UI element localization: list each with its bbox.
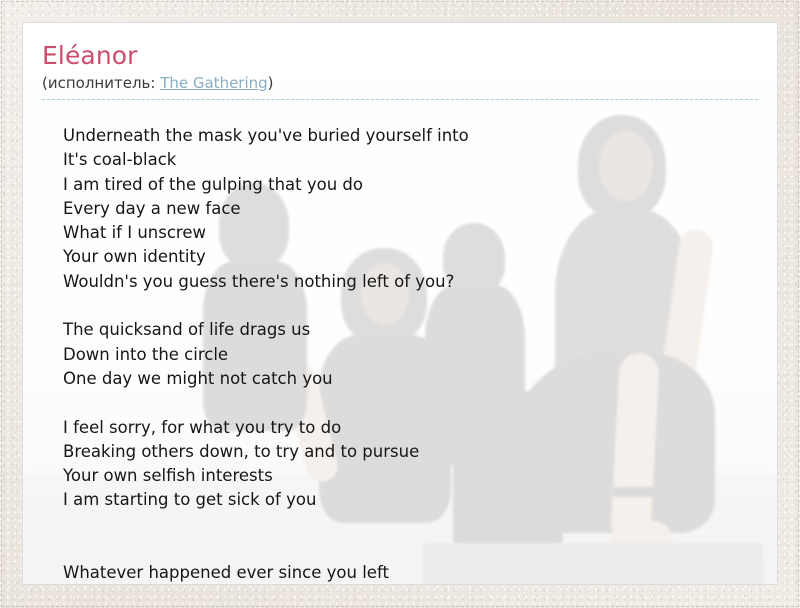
lyric-line: Whatever happened ever since you left	[63, 561, 753, 585]
lyric-line-blank	[63, 294, 753, 318]
lyric-line-blank	[63, 537, 753, 561]
artist-link[interactable]: The Gathering	[160, 74, 267, 92]
lyric-line: I am starting to get sick of you	[63, 488, 753, 512]
artist-subtitle: (исполнитель: The Gathering)	[42, 73, 758, 94]
lyric-line: Underneath the mask you've buried yourse…	[63, 124, 753, 148]
lyric-line: What if I unscrew	[63, 221, 753, 245]
artist-label-suffix: )	[268, 74, 274, 92]
lyric-line: I feel sorry, for what you try to do	[63, 416, 753, 440]
lyric-line: Down into the circle	[63, 343, 753, 367]
lyric-line: Wouldn's you guess there's nothing left …	[63, 270, 753, 294]
lyric-line: One day we might not catch you	[63, 367, 753, 391]
lyric-line-blank	[63, 513, 753, 537]
lyric-line: Every day a new face	[63, 197, 753, 221]
lyric-line: Breaking others down, to try and to purs…	[63, 440, 753, 464]
header-divider	[42, 99, 758, 100]
lyric-line-blank	[63, 391, 753, 415]
lyrics-text: Underneath the mask you've buried yourse…	[63, 124, 753, 585]
lyrics-card: Eléanor (исполнитель: The Gathering) Und…	[22, 22, 778, 585]
artist-label-prefix: (исполнитель:	[42, 74, 160, 92]
lyric-line: Your own identity	[63, 245, 753, 269]
lyric-line: I am tired of the gulping that you do	[63, 173, 753, 197]
page-title: Eléanor	[42, 41, 758, 71]
lyric-line: It's coal-black	[63, 148, 753, 172]
lyric-line: Your own selfish interests	[63, 464, 753, 488]
song-header: Eléanor (исполнитель: The Gathering)	[42, 41, 758, 108]
lyric-line: The quicksand of life drags us	[63, 318, 753, 342]
